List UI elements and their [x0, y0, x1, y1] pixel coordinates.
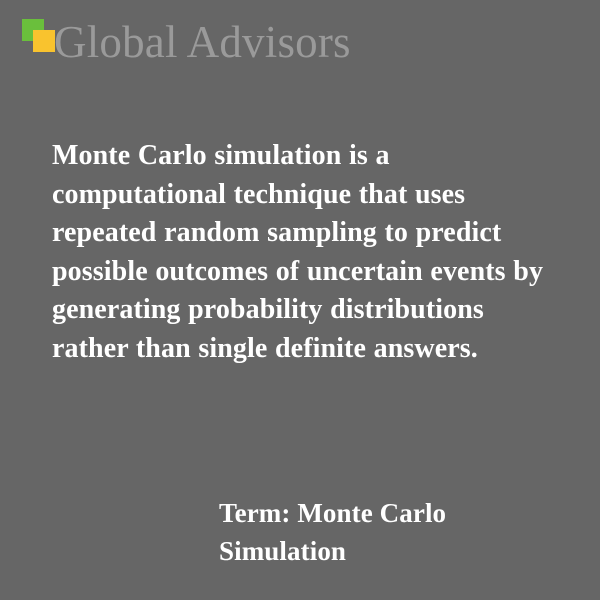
logo-yellow-square-icon [33, 30, 55, 52]
definition-paragraph: Monte Carlo simulation is a computationa… [52, 137, 552, 368]
brand-header: Global Advisors [0, 0, 600, 88]
definition-block: Monte Carlo simulation is a computationa… [52, 137, 552, 368]
slide-canvas: Global Advisors Monte Carlo simulation i… [0, 0, 600, 600]
term-block: Term: Monte Carlo Simulation [219, 494, 549, 570]
brand-title: Global Advisors [54, 16, 351, 68]
brand-logo [22, 19, 56, 53]
term-label: Term: Monte Carlo Simulation [219, 494, 549, 570]
